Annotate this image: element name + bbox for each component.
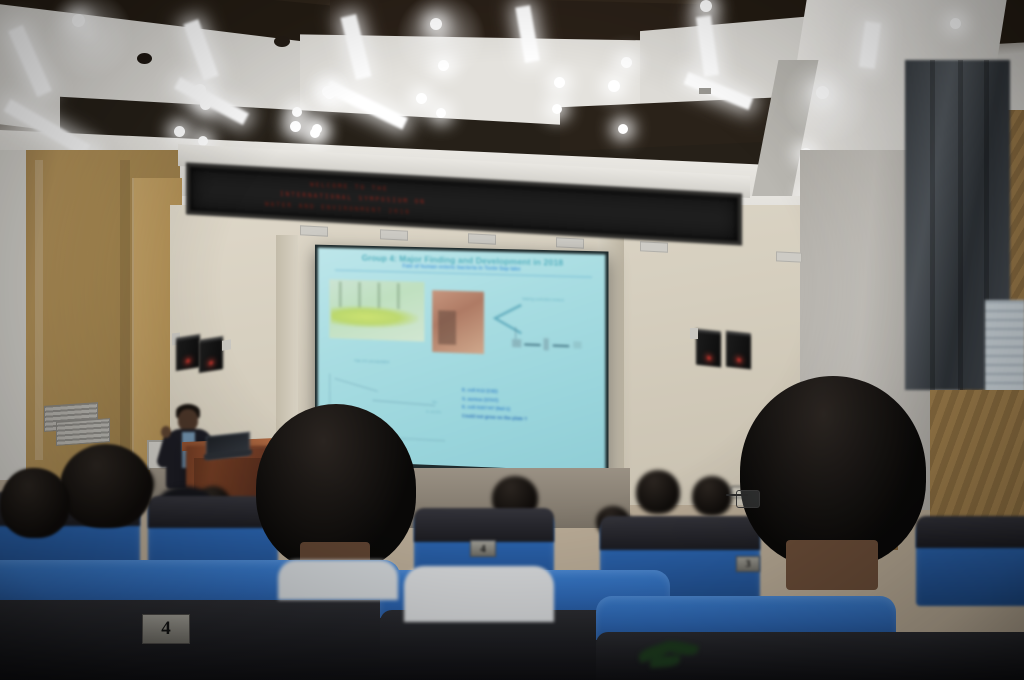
- ceiling-downlight: [324, 88, 335, 99]
- ceiling-downlight: [416, 93, 427, 104]
- left-wall-white-strip: [0, 150, 26, 480]
- wall-trim: [120, 160, 130, 460]
- wall-speaker-right-b: [726, 331, 751, 370]
- ceiling-downlight: [174, 126, 185, 137]
- ceiling-vent-icon: [300, 225, 328, 236]
- ceiling-vent-icon: [556, 237, 584, 248]
- ceiling-downlight: [621, 57, 632, 68]
- audience-head: [636, 470, 680, 514]
- seat-number-plate: 4: [142, 614, 190, 644]
- ceiling-vent-icon: [640, 241, 668, 252]
- ceiling-downlight: [292, 107, 302, 117]
- ceiling-speaker-icon: [274, 36, 290, 47]
- audience-head: [60, 444, 152, 528]
- ceiling-downlight: [290, 121, 301, 132]
- slide-bullet-list: E. coli K12 (CID) S. aureus (STAT) E. co…: [462, 387, 599, 428]
- ceiling-downlight: [554, 77, 565, 88]
- audience-shoulders: [278, 560, 398, 600]
- slide-photo-microscope: [432, 290, 484, 354]
- audience-head: [692, 476, 732, 516]
- glasses-temple-icon: [726, 494, 748, 496]
- ceiling-downlight: [552, 104, 562, 114]
- ceiling-downlight: [194, 84, 206, 96]
- slide-chart-caption: Fate of E.coli population: [354, 359, 389, 364]
- ceiling-vent-icon: [776, 251, 802, 262]
- audience-neck: [786, 540, 878, 590]
- slide-chart-label-1: day: [432, 400, 437, 404]
- ceiling-vent-icon: [380, 229, 408, 240]
- speaker-bracket: [690, 328, 698, 339]
- audience-shoulders: [404, 566, 554, 622]
- light-halo: [782, 54, 872, 144]
- glasses-icon: [736, 490, 760, 508]
- ceiling-speaker-icon: [137, 53, 152, 64]
- slide-photo-green-overlay: [331, 305, 418, 330]
- curtain-fold: [958, 60, 963, 390]
- ceiling-downlight: [700, 0, 712, 12]
- seat-headrest: [414, 508, 554, 542]
- slide-arrow-icon: [491, 302, 523, 335]
- seat-back-foreground-lower: [0, 600, 410, 680]
- lecture-hall-scene: WELCOME TO THE INTERNATIONAL SYMPOSIUM O…: [0, 0, 1024, 680]
- seat-headrest: [916, 516, 1024, 548]
- wall-speaker-left-b: [199, 336, 223, 373]
- ceiling-downlight: [618, 124, 628, 134]
- slide-annotation: Making controlled mixture: [522, 297, 564, 302]
- audience-head: [0, 468, 70, 538]
- seat-number-plate: 4: [470, 540, 496, 557]
- slide-flow-node: [512, 339, 521, 347]
- ceiling-downlight: [950, 18, 961, 29]
- slide-flow-link: [553, 345, 569, 348]
- ceiling-vent-icon: [468, 233, 496, 244]
- wall-speaker-right-a: [696, 329, 721, 368]
- slide-chart-label-2: E. coli CFU: [426, 409, 441, 414]
- right-wall-wood-panel: [930, 390, 1024, 530]
- speaker-bracket: [222, 339, 231, 350]
- slide-flow-node: [573, 341, 581, 348]
- slide-flow-link: [524, 343, 540, 346]
- decorative-plant: [628, 636, 718, 680]
- ceiling-downlight: [200, 99, 211, 110]
- ceiling-downlight: [608, 80, 620, 92]
- ceiling-vent-icon: [699, 88, 711, 94]
- wall-trim: [35, 160, 43, 460]
- air-vent-grill: [56, 418, 110, 446]
- seat-number-plate: 3: [736, 556, 760, 572]
- wall-speaker-left-a: [176, 334, 200, 371]
- curtain-fold: [930, 60, 935, 390]
- slide-flow-node: [544, 338, 549, 350]
- seat-headrest: [600, 516, 760, 550]
- ceiling-downlight: [312, 124, 322, 134]
- ceiling-downlight: [436, 108, 446, 118]
